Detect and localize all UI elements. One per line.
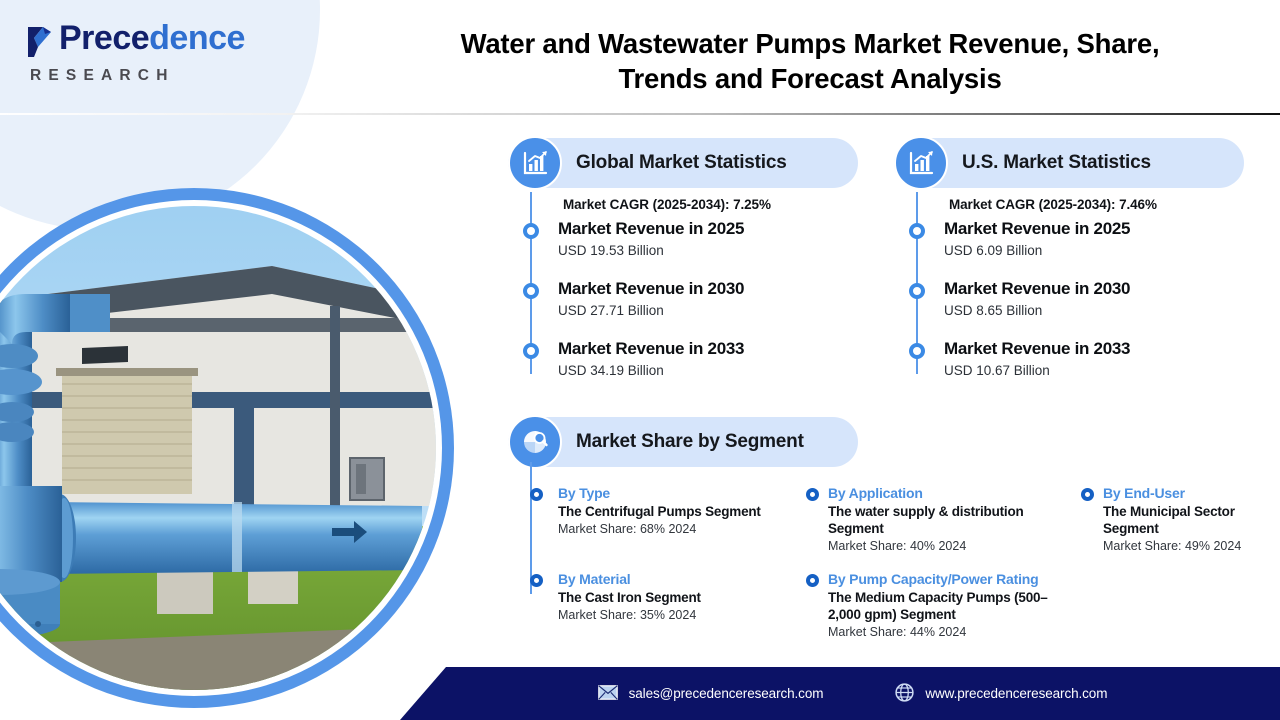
segment-share: Market Share: 68% 2024 <box>558 522 778 536</box>
us-panel-title: U.S. Market Statistics <box>962 152 1151 174</box>
segment-name: The Municipal Sector Segment <box>1103 503 1268 537</box>
segment-share: Market Share: 44% 2024 <box>828 625 1053 639</box>
stat-value: USD 6.09 Billion <box>944 243 1244 258</box>
segment-dot-icon <box>530 574 543 587</box>
segment-dot-icon <box>530 488 543 501</box>
segment-name: The Centrifugal Pumps Segment <box>558 503 778 520</box>
us-stat-item-2033: Market Revenue in 2033 USD 10.67 Billion <box>894 340 1244 400</box>
global-panel-header: Global Market Statistics <box>508 138 858 188</box>
segment-label: By Application <box>828 485 1053 501</box>
footer-website[interactable]: www.precedenceresearch.com <box>895 683 1107 705</box>
timeline-dot-icon <box>909 223 925 239</box>
stat-title: Market Revenue in 2025 <box>944 220 1244 239</box>
stat-value: USD 10.67 Billion <box>944 363 1244 378</box>
stat-title: Market Revenue in 2030 <box>944 280 1244 299</box>
timeline-dot-icon <box>523 223 539 239</box>
logo-word-part-2: dence <box>149 19 245 57</box>
us-panel-header: U.S. Market Statistics <box>894 138 1244 188</box>
global-cagr: Market CAGR (2025-2034): 7.25% <box>563 197 858 212</box>
stat-value: USD 34.19 Billion <box>558 363 858 378</box>
stat-value: USD 8.65 Billion <box>944 303 1244 318</box>
segment-grid: By Type The Centrifugal Pumps Segment Ma… <box>508 485 1268 639</box>
page-title-line-1: Water and Wastewater Pumps Market Revenu… <box>390 26 1230 61</box>
global-market-statistics-panel: Global Market Statistics Market CAGR (20… <box>508 138 858 400</box>
segment-label: By Type <box>558 485 778 501</box>
segment-panel-header: Market Share by Segment <box>508 417 858 467</box>
segment-by-type: By Type The Centrifugal Pumps Segment Ma… <box>508 485 778 553</box>
logo-subtitle: RESEARCH <box>30 67 254 85</box>
stat-title: Market Revenue in 2030 <box>558 280 858 299</box>
footer-email[interactable]: sales@precedenceresearch.com <box>598 685 824 703</box>
global-timeline: Market Revenue in 2025 USD 19.53 Billion… <box>508 220 858 400</box>
timeline-dot-icon <box>523 343 539 359</box>
us-stat-item-2030: Market Revenue in 2030 USD 8.65 Billion <box>894 280 1244 340</box>
brand-logo[interactable]: Precedence RESEARCH <box>24 22 254 85</box>
timeline-dot-icon <box>909 343 925 359</box>
stat-value: USD 27.71 Billion <box>558 303 858 318</box>
market-share-by-segment-panel: Market Share by Segment <box>508 417 858 467</box>
stat-title: Market Revenue in 2025 <box>558 220 858 239</box>
segment-panel-title: Market Share by Segment <box>576 431 804 453</box>
timeline-dot-icon <box>909 283 925 299</box>
segment-by-application: By Application The water supply & distri… <box>778 485 1053 553</box>
segment-dot-icon <box>806 574 819 587</box>
us-stat-item-2025: Market Revenue in 2025 USD 6.09 Billion <box>894 220 1244 280</box>
us-cagr: Market CAGR (2025-2034): 7.46% <box>949 197 1244 212</box>
segment-by-material: By Material The Cast Iron Segment Market… <box>508 571 778 639</box>
segment-row-2: By Material The Cast Iron Segment Market… <box>508 571 1268 639</box>
segment-share: Market Share: 35% 2024 <box>558 608 778 622</box>
footer-email-text: sales@precedenceresearch.com <box>629 686 824 701</box>
bar-chart-growth-icon <box>894 136 948 190</box>
stat-title: Market Revenue in 2033 <box>944 340 1244 359</box>
global-stat-item-2025: Market Revenue in 2025 USD 19.53 Billion <box>508 220 858 280</box>
segment-name: The water supply & distribution Segment <box>828 503 1053 537</box>
footer-website-text: www.precedenceresearch.com <box>925 686 1107 701</box>
timeline-dot-icon <box>523 283 539 299</box>
segment-dot-icon <box>1081 488 1094 501</box>
segment-name: The Medium Capacity Pumps (500–2,000 gpm… <box>828 589 1053 623</box>
stat-title: Market Revenue in 2033 <box>558 340 858 359</box>
header-divider <box>0 113 1280 115</box>
us-market-statistics-panel: U.S. Market Statistics Market CAGR (2025… <box>894 138 1244 400</box>
segment-label: By End-User <box>1103 485 1268 501</box>
us-timeline: Market Revenue in 2025 USD 6.09 Billion … <box>894 220 1244 400</box>
precedence-arrow-logo-icon <box>24 23 58 64</box>
segment-label: By Material <box>558 571 778 587</box>
stat-value: USD 19.53 Billion <box>558 243 858 258</box>
segment-dot-icon <box>806 488 819 501</box>
segment-share: Market Share: 40% 2024 <box>828 539 1053 553</box>
segment-share: Market Share: 49% 2024 <box>1103 539 1268 553</box>
segment-by-pump-capacity: By Pump Capacity/Power Rating The Medium… <box>778 571 1053 639</box>
segment-name: The Cast Iron Segment <box>558 589 778 606</box>
global-stat-item-2033: Market Revenue in 2033 USD 34.19 Billion <box>508 340 858 400</box>
footer: sales@precedenceresearch.com www.precede… <box>0 667 1280 720</box>
page-title: Water and Wastewater Pumps Market Revenu… <box>390 26 1230 96</box>
logo-word-part-1: Prece <box>59 19 149 57</box>
globe-icon <box>895 683 914 705</box>
logo-wordmark: Precedence <box>59 22 245 54</box>
global-panel-title: Global Market Statistics <box>576 152 787 174</box>
segment-label: By Pump Capacity/Power Rating <box>828 571 1053 587</box>
pie-chart-search-icon <box>508 415 562 469</box>
segment-row-1: By Type The Centrifugal Pumps Segment Ma… <box>508 485 1268 553</box>
envelope-icon <box>598 685 618 703</box>
global-stat-item-2030: Market Revenue in 2030 USD 27.71 Billion <box>508 280 858 340</box>
bar-chart-growth-icon <box>508 136 562 190</box>
segment-by-end-user: By End-User The Municipal Sector Segment… <box>1053 485 1268 553</box>
page-title-line-2: Trends and Forecast Analysis <box>390 61 1230 96</box>
